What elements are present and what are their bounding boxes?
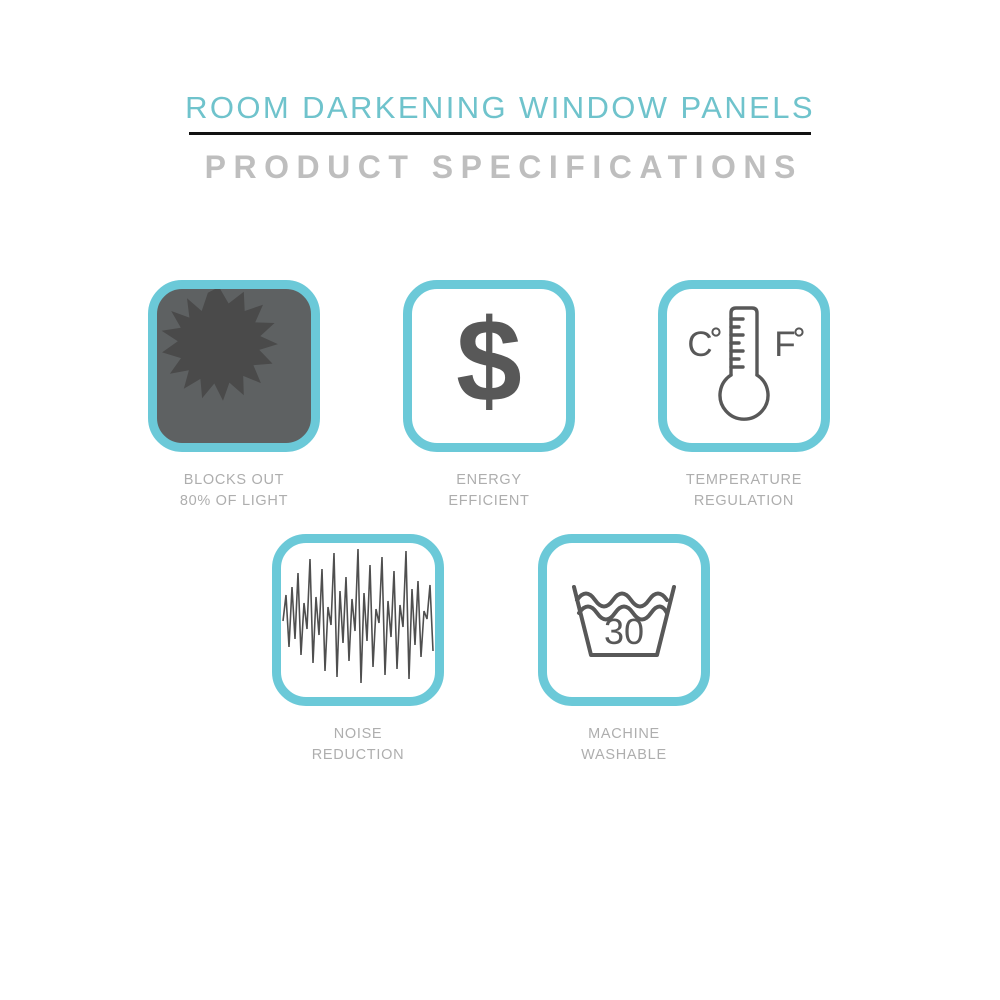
svg-text:$: $ [456, 295, 522, 427]
caption-line-2: REDUCTION [272, 745, 444, 766]
feature-icon-tile [148, 280, 320, 452]
sun-blocked-icon [157, 289, 311, 443]
feature-caption: NOISE REDUCTION [272, 724, 444, 766]
feature-icon-tile: C F [658, 280, 830, 452]
degree-symbol-celsius [712, 328, 719, 335]
thermometer-icon: C F [667, 289, 821, 443]
caption-line-2: 80% OF LIGHT [148, 491, 320, 512]
caption-line-2: EFFICIENT [403, 491, 575, 512]
degree-symbol-fahrenheit [795, 328, 802, 335]
caption-line-1: BLOCKS OUT [184, 472, 284, 488]
feature-card-energy-efficient[interactable]: $ ENERGY EFFICIENT [403, 280, 575, 512]
feature-card-temperature[interactable]: C F TEMPERATURE REGULATION [658, 280, 830, 512]
feature-card-noise-reduction[interactable]: NOISE REDUCTION [272, 534, 444, 766]
fahrenheit-label: F [774, 325, 795, 364]
celsius-label: C [687, 325, 712, 364]
feature-grid: BLOCKS OUT 80% OF LIGHT $ ENERGY EFFICIE… [0, 0, 1000, 1000]
caption-line-1: TEMPERATURE [686, 472, 802, 488]
wash-temperature-label: 30 [604, 611, 644, 652]
dollar-sign-icon: $ [412, 289, 566, 443]
caption-line-1: NOISE [334, 726, 383, 742]
caption-line-1: MACHINE [588, 726, 660, 742]
feature-icon-tile: $ [403, 280, 575, 452]
feature-icon-tile: 30 [538, 534, 710, 706]
feature-icon-tile [272, 534, 444, 706]
caption-line-2: WASHABLE [538, 745, 710, 766]
feature-caption: BLOCKS OUT 80% OF LIGHT [148, 470, 320, 512]
feature-card-machine-washable[interactable]: 30 MACHINE WASHABLE [538, 534, 710, 766]
sound-waveform-icon [281, 543, 435, 697]
feature-caption: ENERGY EFFICIENT [403, 470, 575, 512]
caption-line-1: ENERGY [456, 472, 521, 488]
feature-caption: MACHINE WASHABLE [538, 724, 710, 766]
wash-tub-icon: 30 [547, 543, 701, 697]
feature-card-blocks-light[interactable]: BLOCKS OUT 80% OF LIGHT [148, 280, 320, 512]
caption-line-2: REGULATION [658, 491, 830, 512]
feature-caption: TEMPERATURE REGULATION [658, 470, 830, 512]
